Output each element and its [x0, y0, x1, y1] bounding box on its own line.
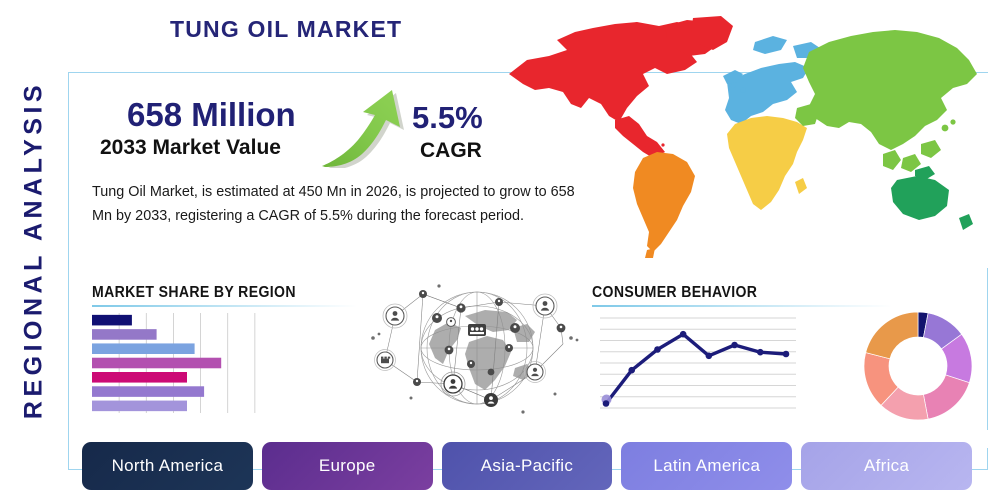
region-tab-list: North AmericaEuropeAsia-PacificLatin Ame… [82, 442, 972, 490]
growth-arrow-icon [316, 88, 406, 168]
regional-analysis-side-label: REGIONAL ANALYSIS [0, 0, 68, 500]
market-share-section-title: MARKET SHARE BY REGION [92, 284, 296, 302]
bar-segment [92, 329, 157, 340]
consumer-behavior-underline [592, 305, 892, 307]
cagr-figure: 5.5% [412, 100, 483, 136]
data-point [731, 342, 738, 349]
data-point [628, 367, 635, 374]
region-tab-label: North America [112, 456, 224, 476]
data-point [706, 353, 713, 360]
world-map-icon [497, 12, 997, 267]
bar-segment [92, 358, 221, 369]
region-tab-label: Africa [864, 456, 909, 476]
region-tab[interactable]: Latin America [621, 442, 792, 490]
consumer-behavior-line-chart [600, 312, 796, 416]
region-tab[interactable]: Asia-Pacific [442, 442, 613, 490]
donut-slice [923, 375, 969, 419]
data-point [783, 351, 790, 358]
globe-network-icon [365, 272, 590, 424]
side-label-text: REGIONAL ANALYSIS [20, 81, 49, 419]
region-tab[interactable]: Africa [801, 442, 972, 490]
bar-segment [92, 343, 195, 354]
market-share-underline [92, 305, 357, 307]
region-tab[interactable]: North America [82, 442, 253, 490]
bar-segment [92, 386, 204, 397]
data-point [680, 331, 687, 338]
data-point [654, 346, 661, 353]
data-point [757, 349, 764, 356]
donut-slice [866, 312, 918, 359]
bar-segment [92, 401, 187, 412]
bar-segment [92, 315, 132, 326]
cagr-label: CAGR [420, 139, 482, 163]
data-point [603, 400, 610, 407]
region-tab-label: Asia-Pacific [481, 456, 573, 476]
region-tab[interactable]: Europe [262, 442, 433, 490]
segment-donut-chart [862, 310, 974, 422]
market-value-figure: 658 Million [127, 96, 296, 134]
region-tab-label: Latin America [653, 456, 760, 476]
consumer-behavior-section-title: CONSUMER BEHAVIOR [592, 284, 757, 302]
infographic-canvas: REGIONAL ANALYSIS TUNG OIL MARKET 658 Mi… [0, 0, 1000, 500]
page-title: TUNG OIL MARKET [170, 16, 402, 43]
market-share-bar-chart [92, 313, 282, 413]
bar-segment [92, 372, 187, 383]
market-value-label: 2033 Market Value [100, 136, 281, 160]
region-tab-label: Europe [319, 456, 376, 476]
